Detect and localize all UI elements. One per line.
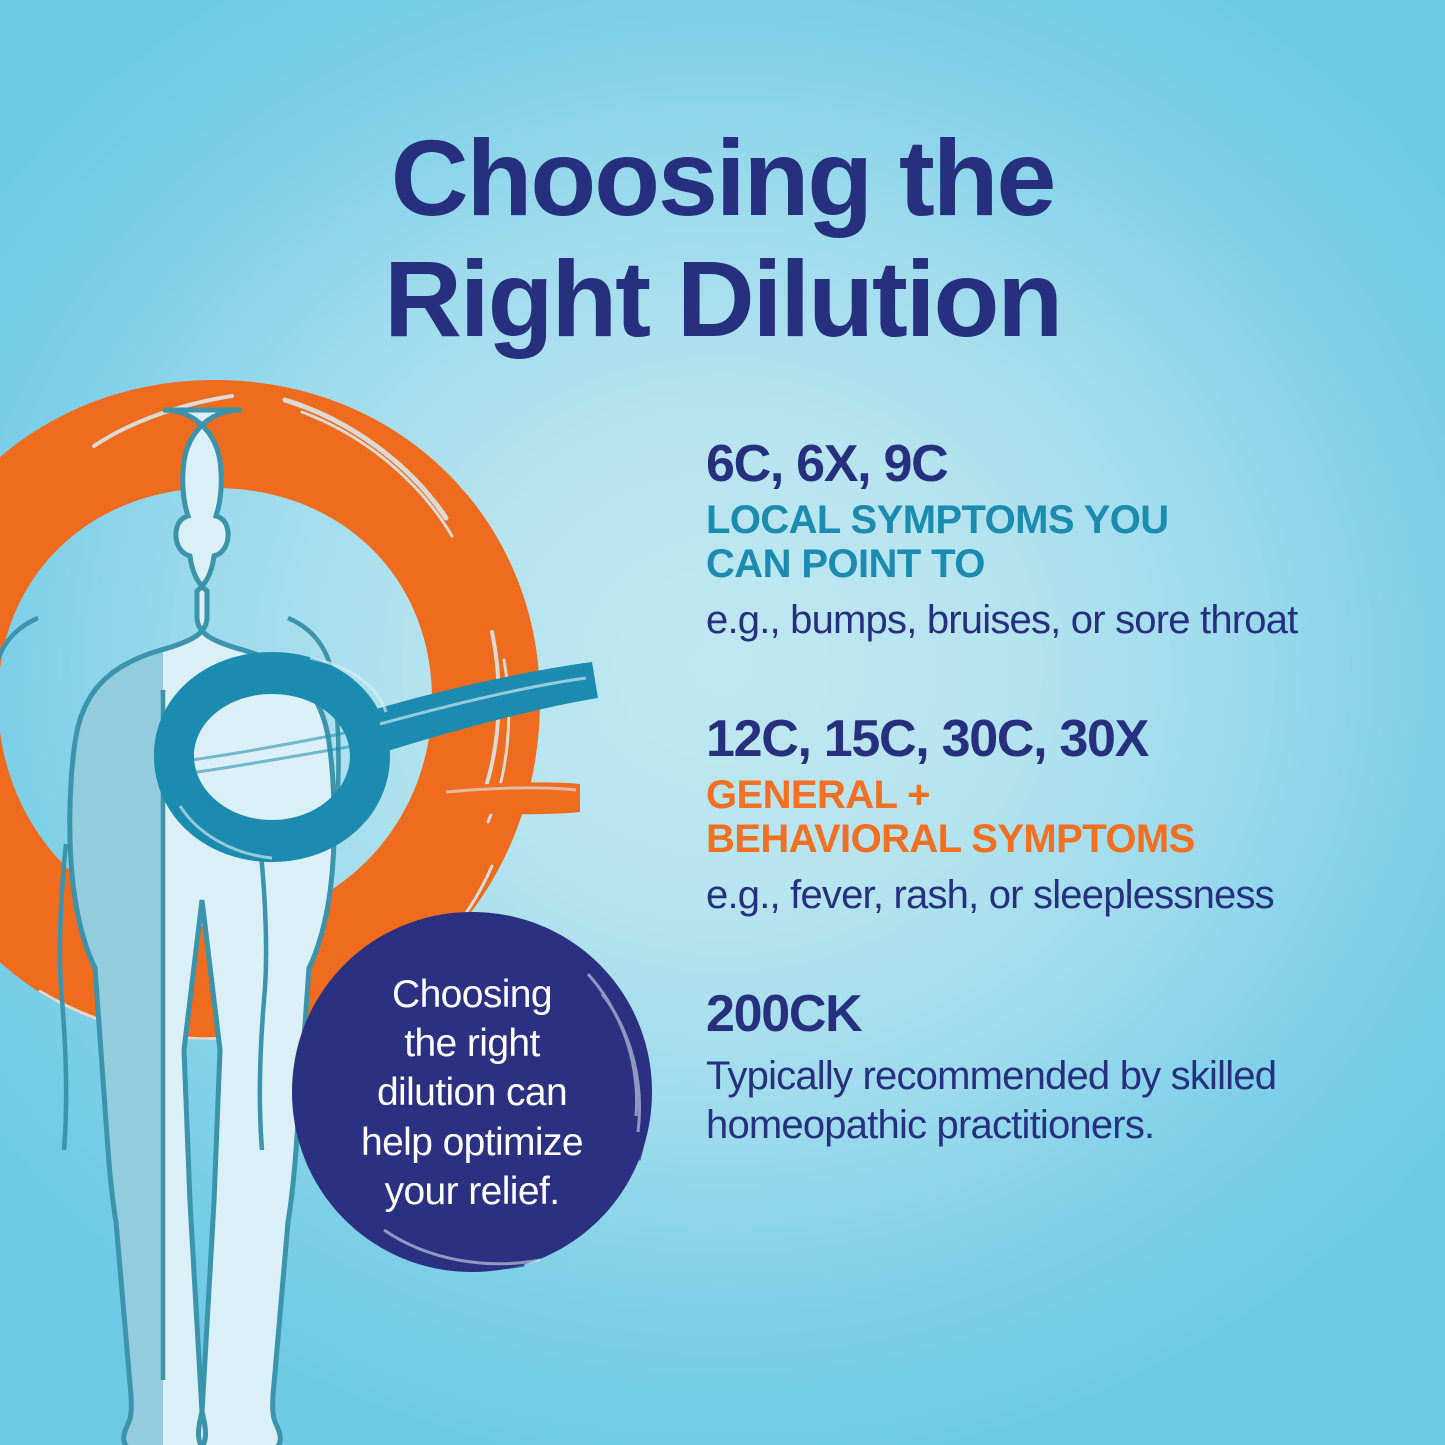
- page-title: Choosing the Right Dilution: [0, 118, 1445, 360]
- dilution-category-local: LOCAL SYMPTOMS YOU CAN POINT TO: [706, 498, 1406, 586]
- dilution-category-general: GENERAL + BEHAVIORAL SYMPTOMS: [706, 773, 1406, 861]
- dilution-label-local: 6C, 6X, 9C: [706, 436, 1406, 492]
- status-badge: Choosing the right dilution can help opt…: [288, 908, 656, 1276]
- badge-text: Choosing the right dilution can help opt…: [332, 960, 612, 1226]
- human-figure: [0, 360, 660, 1445]
- dilution-example-local: e.g., bumps, bruises, or sore throat: [706, 596, 1406, 645]
- dilution-block-local: 6C, 6X, 9C LOCAL SYMPTOMS YOU CAN POINT …: [706, 436, 1406, 645]
- dilution-block-general: 12C, 15C, 30C, 30X GENERAL + BEHAVIORAL …: [706, 711, 1406, 920]
- dilution-example-200ck: Typically recommended by skilled homeopa…: [706, 1052, 1406, 1150]
- infographic-poster: Choosing the Right Dilution: [0, 0, 1445, 1445]
- dilution-label-general: 12C, 15C, 30C, 30X: [706, 711, 1406, 767]
- dilution-blocks: 6C, 6X, 9C LOCAL SYMPTOMS YOU CAN POINT …: [706, 436, 1406, 1150]
- dilution-block-200ck: 200CK Typically recommended by skilled h…: [706, 986, 1406, 1150]
- illustration-figure-magnifier: [0, 360, 660, 1445]
- dilution-example-general: e.g., fever, rash, or sleeplessness: [706, 871, 1406, 920]
- dilution-label-200ck: 200CK: [706, 986, 1406, 1042]
- orange-pointer-stroke: [440, 782, 580, 814]
